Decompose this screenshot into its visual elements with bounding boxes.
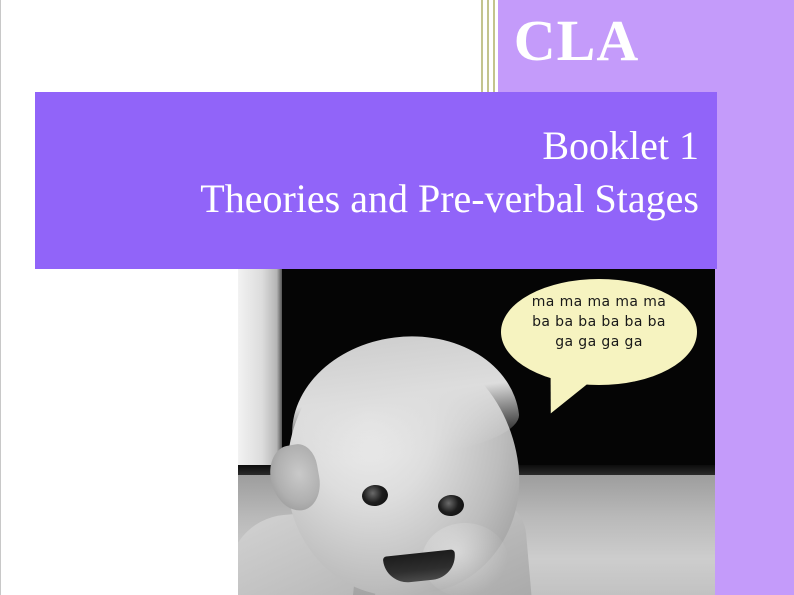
babble-line-ma: ma ma ma ma ma <box>501 293 697 313</box>
babble-line-ga: ga ga ga ga <box>501 333 697 353</box>
babble-line-ba: ba ba ba ba ba ba <box>501 313 697 333</box>
banner-line-subtitle: Theories and Pre-verbal Stages <box>53 173 699 226</box>
title-banner: Booklet 1 Theories and Pre-verbal Stages <box>35 92 717 269</box>
speech-bubble-text: ma ma ma ma ma ba ba ba ba ba ba ga ga g… <box>501 293 697 353</box>
slide-canvas: CLA Booklet 1 Theories and Pre-verbal St… <box>0 0 794 595</box>
banner-text-block: Booklet 1 Theories and Pre-verbal Stages <box>53 120 699 226</box>
baby-photo: ma ma ma ma ma ba ba ba ba ba ba ga ga g… <box>238 269 715 595</box>
slide-title: CLA <box>498 8 794 75</box>
banner-line-booklet: Booklet 1 <box>53 120 699 173</box>
